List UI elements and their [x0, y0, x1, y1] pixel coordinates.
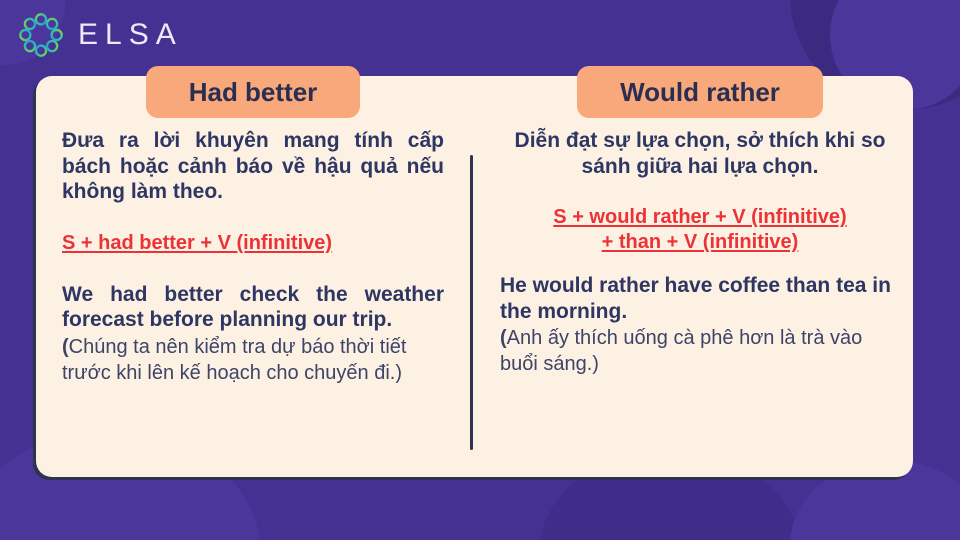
elsa-flower-logo-icon: [18, 12, 64, 58]
would-rather-example: He would rather have coffee than tea in …: [500, 273, 900, 324]
column-would-rather: Diễn đạt sự lựa chọn, sở thích khi so sá…: [500, 128, 900, 378]
would-rather-translation-paren: (: [500, 327, 507, 349]
would-rather-description: Diễn đạt sự lựa chọn, sở thích khi so sá…: [500, 128, 900, 179]
had-better-translation-paren: (: [62, 336, 69, 358]
brand-logo: ELSA: [18, 12, 183, 58]
had-better-description: Đưa ra lời khuyên mang tính cấp bách hoặ…: [62, 128, 444, 205]
badge-would-rather: Would rather: [577, 66, 823, 118]
badge-would-rather-label: Would rather: [620, 77, 780, 108]
would-rather-formula-line1: S + would rather + V (infinitive): [553, 206, 846, 228]
column-divider: [470, 155, 473, 450]
had-better-translation: (Chúng ta nên kiểm tra dự báo thời tiết …: [62, 335, 444, 386]
badge-had-better-label: Had better: [189, 77, 318, 108]
would-rather-formula-line2: + than + V (infinitive): [602, 231, 799, 253]
had-better-translation-text: Chúng ta nên kiểm tra dự báo thời tiết t…: [62, 336, 406, 384]
had-better-example: We had better check the weather forecast…: [62, 282, 444, 333]
would-rather-translation: (Anh ấy thích uống cà phê hơn là trà vào…: [500, 326, 900, 377]
column-had-better: Đưa ra lời khuyên mang tính cấp bách hoặ…: [62, 128, 444, 386]
would-rather-formula: S + would rather + V (infinitive)+ than …: [500, 205, 900, 255]
brand-name: ELSA: [78, 18, 183, 52]
badge-had-better: Had better: [146, 66, 360, 118]
would-rather-translation-text: Anh ấy thích uống cà phê hơn là trà vào …: [500, 327, 862, 375]
had-better-formula: S + had better + V (infinitive): [62, 231, 444, 256]
